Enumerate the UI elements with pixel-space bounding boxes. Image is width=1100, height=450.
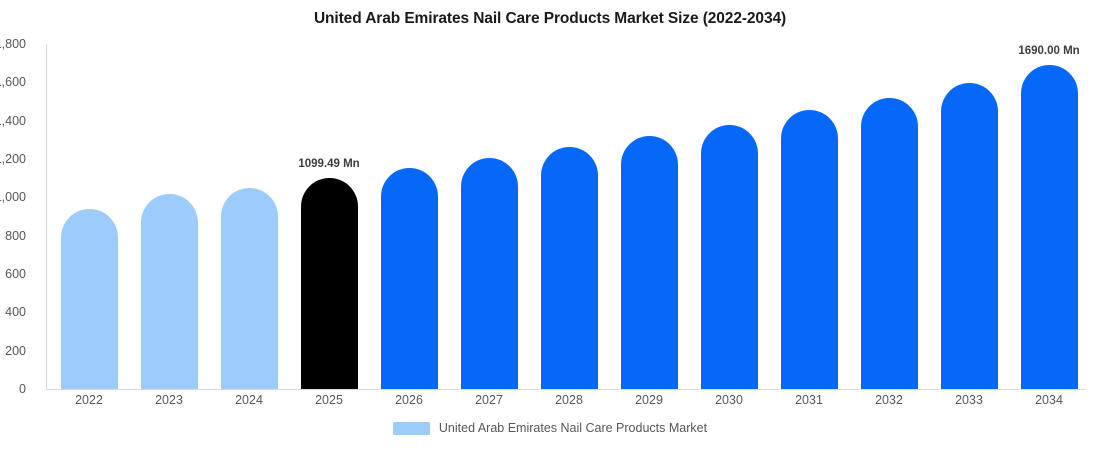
x-axis-tick-2030: 2030	[689, 393, 769, 407]
y-axis-tick: 1,800	[0, 37, 26, 51]
y-axis-tick: 1,200	[0, 152, 26, 166]
x-axis-line	[46, 389, 1086, 390]
legend-swatch-icon	[393, 422, 430, 435]
x-axis-tick-2023: 2023	[129, 393, 209, 407]
bar-2029[interactable]	[621, 136, 678, 389]
y-axis-tick: 600	[0, 267, 26, 281]
bar-group	[861, 98, 918, 389]
legend-label: United Arab Emirates Nail Care Products …	[439, 421, 707, 435]
chart-title: United Arab Emirates Nail Care Products …	[0, 10, 1100, 28]
bar-value-label-2025: 1099.49 Mn	[298, 158, 359, 170]
bar-group	[941, 83, 998, 389]
y-axis-tick: 1,400	[0, 114, 26, 128]
x-axis-tick-2022: 2022	[49, 393, 129, 407]
y-axis-tick: 1,000	[0, 190, 26, 204]
bar-group	[621, 136, 678, 389]
bar-group	[381, 168, 438, 389]
bar-group	[541, 147, 598, 389]
chart-container: United Arab Emirates Nail Care Products …	[0, 0, 1100, 450]
bar-value-label-2034: 1690.00 Mn	[1018, 45, 1079, 57]
x-axis-tick-2027: 2027	[449, 393, 529, 407]
y-axis-tick: 800	[0, 229, 26, 243]
bar-2027[interactable]	[461, 158, 518, 389]
y-axis-line	[46, 44, 47, 389]
bar-2031[interactable]	[781, 110, 838, 389]
bar-2034[interactable]	[1021, 65, 1078, 389]
bar-2022[interactable]	[61, 209, 118, 389]
bar-2026[interactable]	[381, 168, 438, 389]
plot-area: 02004006008001,0001,2001,4001,6001,800 1…	[46, 44, 1086, 389]
bar-2028[interactable]	[541, 147, 598, 389]
bar-group	[701, 125, 758, 390]
x-axis-tick-2031: 2031	[769, 393, 849, 407]
x-axis-tick-2025: 2025	[289, 393, 369, 407]
x-axis-tick-2029: 2029	[609, 393, 689, 407]
bar-2025[interactable]	[301, 178, 358, 389]
bar-2032[interactable]	[861, 98, 918, 389]
y-axis-tick: 200	[0, 344, 26, 358]
y-axis-tick: 1,600	[0, 75, 26, 89]
bar-2024[interactable]	[221, 188, 278, 389]
bar-group: 1099.49 Mn	[301, 178, 358, 389]
x-axis-tick-2026: 2026	[369, 393, 449, 407]
x-axis-tick-2034: 2034	[1009, 393, 1089, 407]
x-axis-tick-2033: 2033	[929, 393, 1009, 407]
y-axis-tick: 0	[0, 382, 26, 396]
bar-group	[221, 188, 278, 389]
x-axis-tick-2024: 2024	[209, 393, 289, 407]
bar-group	[61, 209, 118, 389]
bar-2033[interactable]	[941, 83, 998, 389]
bar-group: 1690.00 Mn	[1021, 65, 1078, 389]
x-axis-tick-2032: 2032	[849, 393, 929, 407]
bar-2023[interactable]	[141, 194, 198, 389]
x-axis-tick-2028: 2028	[529, 393, 609, 407]
bar-group	[461, 158, 518, 389]
bar-group	[141, 194, 198, 389]
bar-group	[781, 110, 838, 389]
bar-2030[interactable]	[701, 125, 758, 390]
y-axis-tick: 400	[0, 305, 26, 319]
chart-legend: United Arab Emirates Nail Care Products …	[0, 421, 1100, 435]
